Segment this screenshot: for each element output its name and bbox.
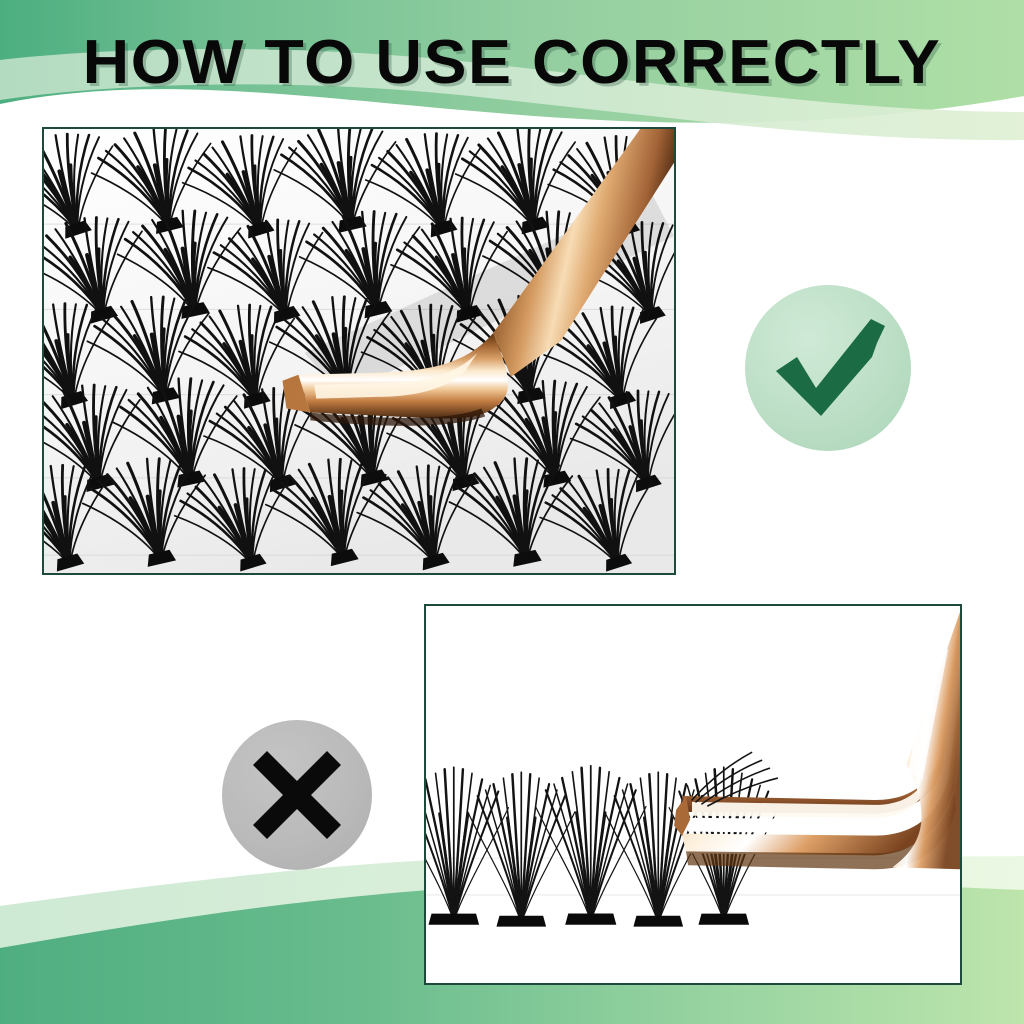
infographic-canvas: HOW TO USE CORRECTLY [0, 0, 1024, 1024]
check-icon [745, 285, 911, 451]
correct-usage-photo [42, 127, 676, 575]
close-icon [222, 720, 372, 870]
incorrect-photo-content [426, 606, 960, 983]
incorrect-usage-photo [424, 604, 962, 985]
correct-photo-content [44, 129, 674, 573]
page-title: HOW TO USE CORRECTLY [0, 30, 1024, 96]
check-badge [745, 285, 911, 451]
cross-badge [222, 720, 372, 870]
